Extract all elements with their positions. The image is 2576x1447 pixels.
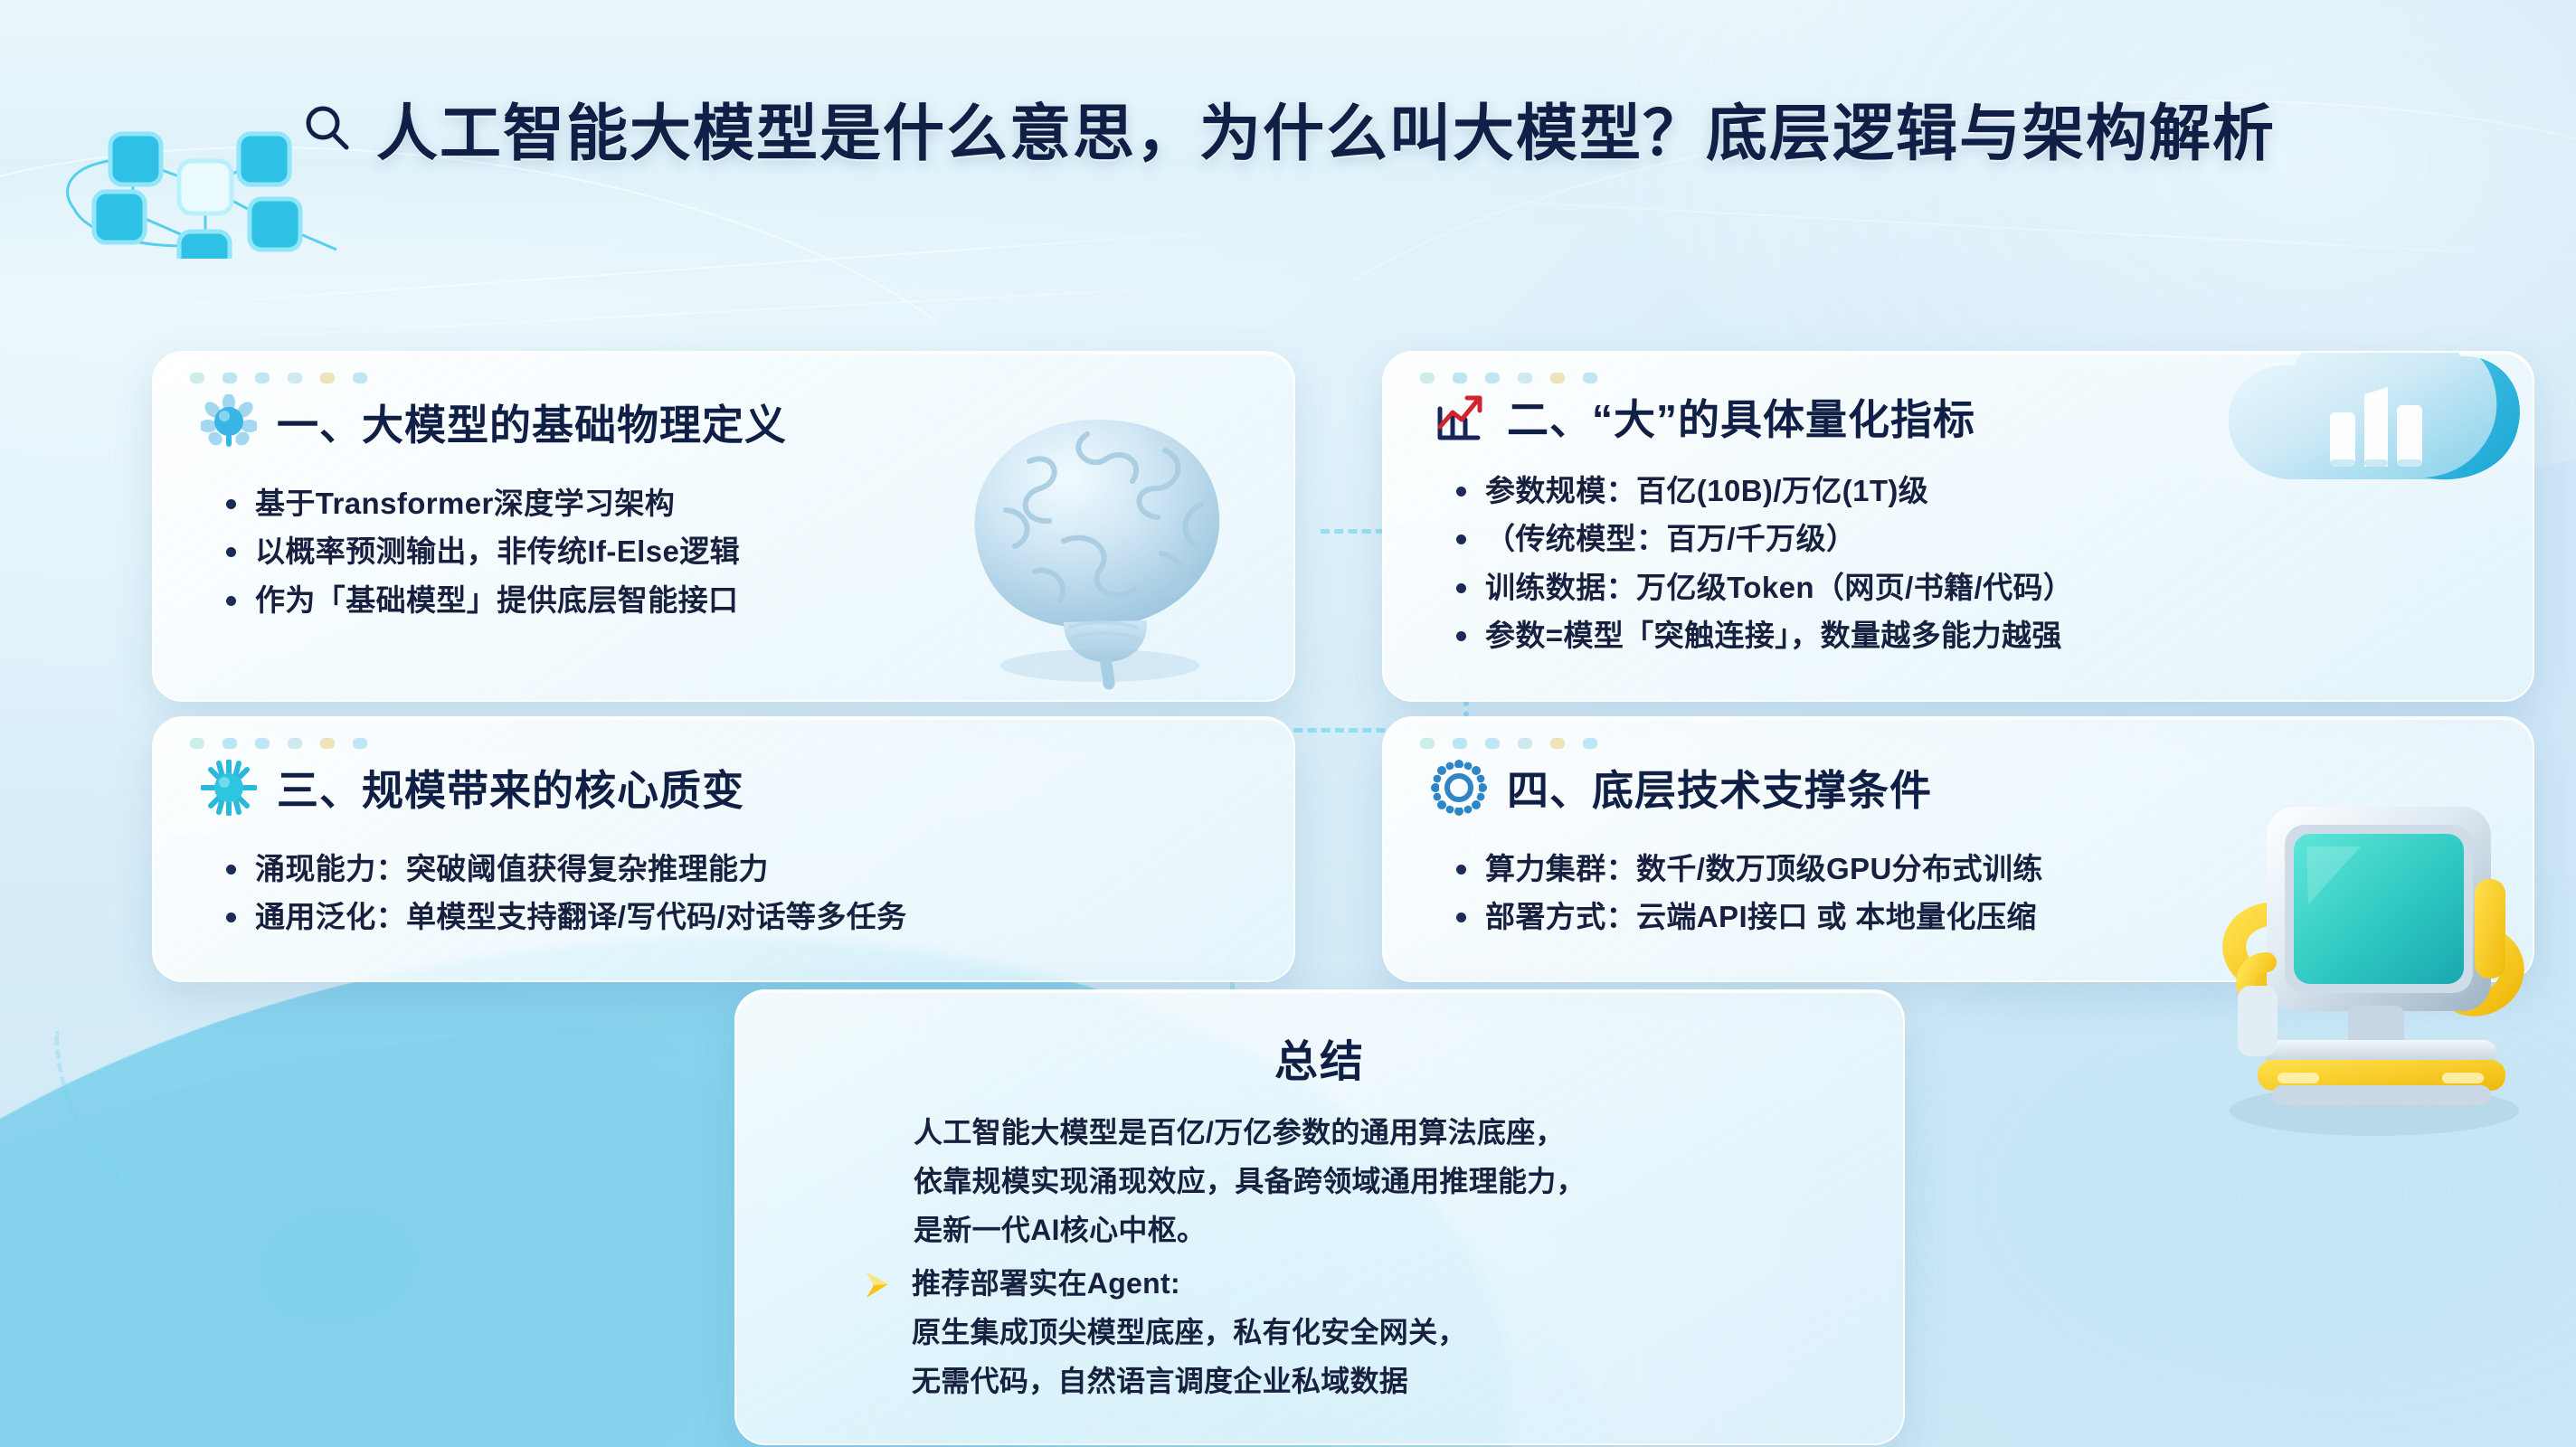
list-item: （传统模型：百万/千万级） [1453,515,2484,563]
header: 人工智能大模型是什么意思，为什么叫大模型？底层逻辑与架构解析 [0,78,2576,177]
card-bullet-list: 基于Transformer深度学习架构 以概率预测输出，非传统If-Else逻辑… [201,479,1245,624]
card-title: 三、规模带来的核心质变 [277,758,744,818]
list-item: 涌现能力：突破阈值获得复杂推理能力 [223,845,1245,893]
recommendation-lines: 推荐部署实在Agent: 原生集成顶尖模型底座，私有化安全网关， 无需代码，自然… [912,1260,1467,1405]
chart-increasing-icon [1431,389,1487,445]
recommendation-line: 无需代码，自然语言调度企业私域数据 [912,1357,1467,1406]
summary-line: 人工智能大模型是百亿/万亿参数的通用算法底座， [914,1109,1903,1158]
card-emergence[interactable]: 三、规模带来的核心质变 涌现能力：突破阈值获得复杂推理能力 通用泛化：单模型支持… [152,716,1295,982]
sun-burst-icon [201,760,257,816]
card-title: 四、底层技术支撑条件 [1507,758,1932,818]
search-icon [300,101,353,154]
yellow-arrow-icon [861,1267,897,1303]
recommendation-title: 推荐部署实在Agent: [912,1260,1467,1309]
summary-line: 依靠规模实现涌现效应，具备跨领域通用推理能力， [914,1158,1903,1206]
page-title: 人工智能大模型是什么意思，为什么叫大模型？底层逻辑与架构解析 [376,83,2276,173]
summary-body: 人工智能大模型是百亿/万亿参数的通用算法底座， 依靠规模实现涌现效应，具备跨领域… [736,1109,1903,1406]
list-item: 基于Transformer深度学习架构 [223,479,1245,527]
card-summary[interactable]: 总结 人工智能大模型是百亿/万亿参数的通用算法底座， 依靠规模实现涌现效应，具备… [734,989,1905,1445]
card-bullet-list: 参数规模：百亿(10B)/万亿(1T)级 （传统模型：百万/千万级） 训练数据：… [1431,467,2484,660]
gear-icon [1431,760,1487,816]
list-item: 通用泛化：单模型支持翻译/写代码/对话等多任务 [223,893,1245,941]
flower-burst-icon [201,394,257,450]
card-metrics[interactable]: 二、“大”的具体量化指标 参数规模：百亿(10B)/万亿(1T)级 （传统模型：… [1382,351,2534,702]
summary-line: 是新一代AI核心中枢。 [914,1206,1903,1255]
list-item: 训练数据：万亿级Token（网页/书籍/代码） [1453,563,2484,611]
slide-canvas: 人工智能大模型是什么意思，为什么叫大模型？底层逻辑与架构解析 [0,0,2576,1447]
list-item: 作为「基础模型」提供底层智能接口 [223,576,1245,624]
computer-3d-illustration [2171,769,2569,1149]
list-item: 参数规模：百亿(10B)/万亿(1T)级 [1453,467,2484,515]
list-item: 参数=模型「突触连接」，数量越多能力越强 [1453,611,2484,659]
card-definition[interactable]: 一、大模型的基础物理定义 基于Transformer深度学习架构 以概率预测输出… [152,351,1295,702]
card-title: 一、大模型的基础物理定义 [277,392,787,452]
recommendation-row: 推荐部署实在Agent: 原生集成顶尖模型底座，私有化安全网关， 无需代码，自然… [914,1260,1903,1405]
card-bullet-list: 涌现能力：突破阈值获得复杂推理能力 通用泛化：单模型支持翻译/写代码/对话等多任… [201,845,1245,941]
card-title: 二、“大”的具体量化指标 [1507,387,1975,447]
connector-dash-curve [54,1031,692,1230]
list-item: 以概率预测输出，非传统If-Else逻辑 [223,527,1245,575]
recommendation-line: 原生集成顶尖模型底座，私有化安全网关， [912,1309,1467,1357]
summary-title: 总结 [736,1026,1903,1089]
